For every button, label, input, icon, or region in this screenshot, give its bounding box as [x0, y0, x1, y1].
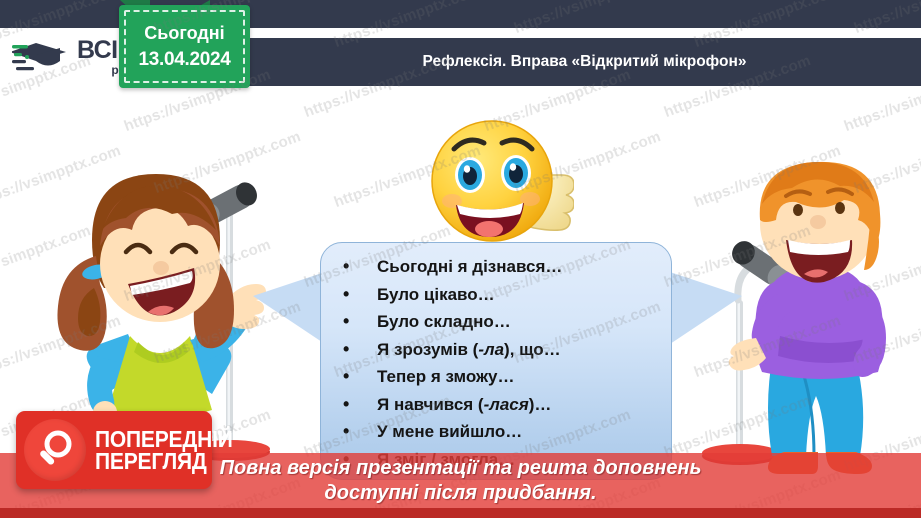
list-item: • Було складно…	[343, 308, 672, 336]
list-item: • Сьогодні я дізнався…	[343, 253, 672, 281]
purchase-notice-line2: доступні після придбання.	[324, 481, 596, 506]
prompt-text: Я зрозумів (	[377, 340, 478, 359]
bullet-icon: •	[343, 253, 357, 281]
prompt-text-tail: ), що…	[504, 340, 561, 359]
preview-badge-line2: ПЕРЕГЛЯД	[95, 450, 233, 474]
bullet-icon: •	[343, 308, 357, 336]
prompt-text: Тепер я зможу…	[377, 367, 515, 386]
reflection-prompts-bubble: • Сьогодні я дізнався… • Було цікаво… • …	[320, 242, 672, 480]
bullet-icon: •	[343, 336, 357, 364]
bullet-icon: •	[343, 418, 357, 446]
list-item: • У мене вийшло…	[343, 418, 672, 446]
prompt-text: У мене вийшло…	[377, 422, 522, 441]
list-item: • Тепер я зможу…	[343, 363, 672, 391]
prompt-text: Було цікаво…	[377, 285, 495, 304]
banner-bottom-strip	[0, 508, 921, 518]
bullet-icon: •	[343, 281, 357, 309]
reflection-prompts-list: • Сьогодні я дізнався… • Було цікаво… • …	[321, 243, 672, 473]
prompt-text-tail: )…	[529, 395, 552, 414]
prompt-text-emphasis: -ла	[478, 340, 504, 359]
prompt-text: Було складно…	[377, 312, 511, 331]
prompt-text: Сьогодні я дізнався…	[377, 257, 562, 276]
bullet-icon: •	[343, 391, 357, 419]
list-item: • Було цікаво…	[343, 281, 672, 309]
slide-canvas: • Сьогодні я дізнався… • Було цікаво… • …	[0, 0, 921, 518]
purchase-notice-line1: Повна версія презентації та решта доповн…	[220, 456, 702, 481]
prompt-text: Я навчився (	[377, 395, 484, 414]
list-item: • Я зрозумів (-ла), що…	[343, 336, 672, 364]
speech-bubble-tail-right	[670, 272, 742, 344]
speech-bubble-tail-left	[253, 272, 325, 344]
bullet-icon: •	[343, 363, 357, 391]
preview-badge[interactable]: ПОПЕРЕДНІЙ ПЕРЕГЛЯД	[16, 411, 212, 489]
prompt-text-emphasis: -лася	[484, 395, 529, 414]
magnifier-icon	[24, 419, 86, 481]
list-item: • Я навчився (-лася)…	[343, 391, 672, 419]
